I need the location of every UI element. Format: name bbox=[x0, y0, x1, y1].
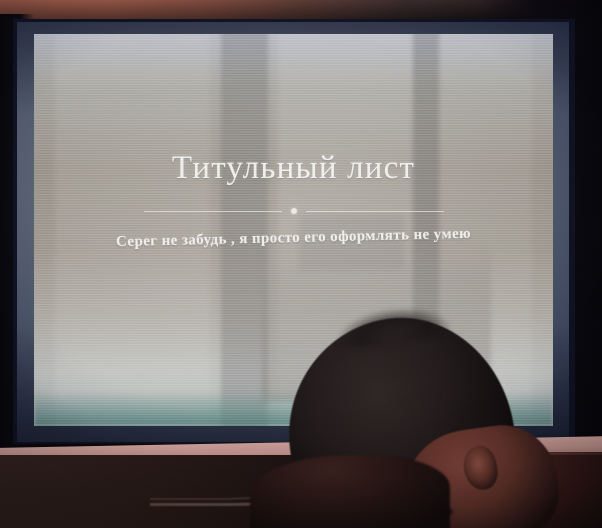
photo-canvas: Титульный лист Серег не забудь , я прост… bbox=[0, 0, 602, 528]
divider-line-right bbox=[306, 211, 444, 212]
divider-dot-icon bbox=[291, 208, 297, 214]
divider-line-left bbox=[144, 211, 282, 212]
slide-divider bbox=[144, 204, 444, 218]
person-shoulder bbox=[250, 455, 450, 528]
slide-text-block: Титульный лист Серег не забудь , я прост… bbox=[34, 152, 553, 247]
slide-title: Титульный лист bbox=[34, 152, 553, 185]
